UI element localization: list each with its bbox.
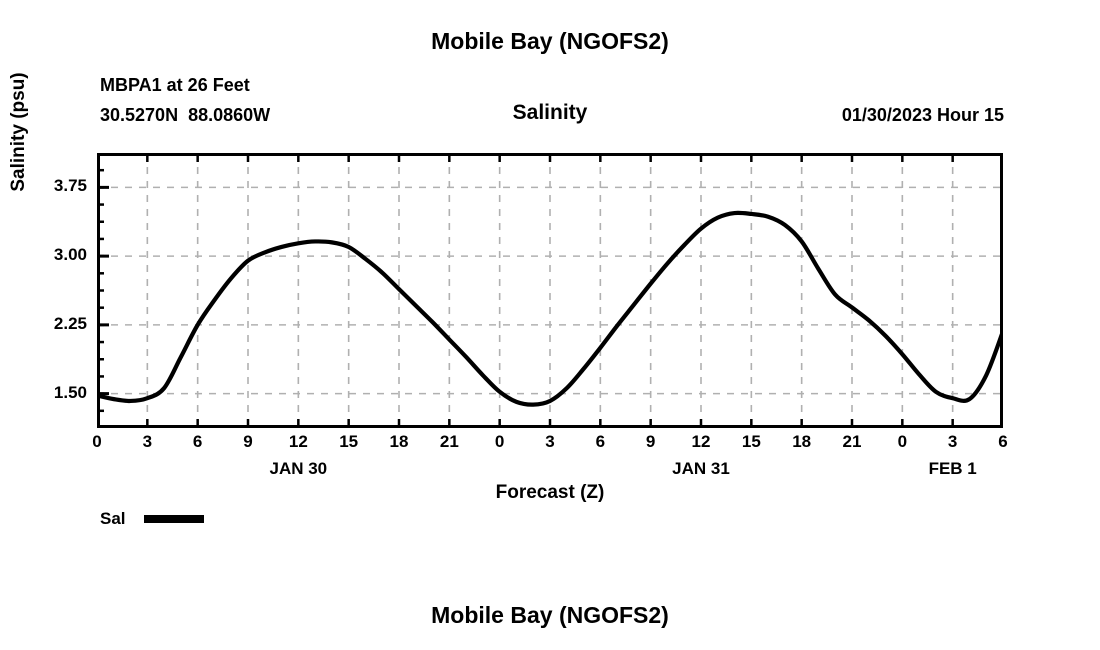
x-axis-tick-label: 15 bbox=[731, 432, 771, 452]
x-axis-tick-label: 6 bbox=[580, 432, 620, 452]
x-axis-tick-label: 6 bbox=[983, 432, 1023, 452]
salinity-line-chart bbox=[97, 153, 1003, 428]
legend-color-swatch bbox=[144, 515, 204, 523]
x-axis-tick-label: 21 bbox=[429, 432, 469, 452]
x-axis-day-label: JAN 31 bbox=[631, 459, 771, 479]
y-axis-tick-label: 1.50 bbox=[17, 383, 87, 403]
x-axis-tick-label: 0 bbox=[480, 432, 520, 452]
x-axis-tick-label: 0 bbox=[882, 432, 922, 452]
y-axis-tick-labels: 3.753.002.251.50 bbox=[17, 153, 87, 428]
station-name-label: MBPA1 at 26 Feet bbox=[100, 75, 250, 96]
bottom-title: Mobile Bay (NGOFS2) bbox=[0, 602, 1100, 629]
page-title: Mobile Bay (NGOFS2) bbox=[0, 28, 1100, 55]
plot-area bbox=[97, 153, 1003, 428]
x-axis-tick-label: 9 bbox=[631, 432, 671, 452]
legend-label-sal: Sal bbox=[100, 509, 126, 529]
chart-legend: Sal bbox=[100, 509, 204, 529]
x-axis-tick-label: 0 bbox=[77, 432, 117, 452]
y-axis-tick-label: 3.75 bbox=[17, 176, 87, 196]
x-axis-tick-label: 12 bbox=[278, 432, 318, 452]
x-axis-tick-label: 9 bbox=[228, 432, 268, 452]
x-axis-tick-label: 3 bbox=[530, 432, 570, 452]
x-axis-tick-labels: 036912151821036912151821036 bbox=[0, 432, 1100, 458]
x-axis-tick-label: 18 bbox=[379, 432, 419, 452]
forecast-timestamp-label: 01/30/2023 Hour 15 bbox=[842, 105, 1004, 126]
x-axis-tick-label: 15 bbox=[329, 432, 369, 452]
x-axis-tick-label: 3 bbox=[933, 432, 973, 452]
y-axis-tick-label: 2.25 bbox=[17, 314, 87, 334]
x-axis-day-label: JAN 30 bbox=[228, 459, 368, 479]
x-axis-tick-label: 6 bbox=[178, 432, 218, 452]
x-axis-tick-label: 21 bbox=[832, 432, 872, 452]
x-axis-tick-label: 3 bbox=[127, 432, 167, 452]
x-axis-tick-label: 18 bbox=[782, 432, 822, 452]
x-axis-day-label: FEB 1 bbox=[883, 459, 1023, 479]
x-axis-title: Forecast (Z) bbox=[0, 482, 1100, 504]
x-axis-tick-label: 12 bbox=[681, 432, 721, 452]
y-axis-tick-label: 3.00 bbox=[17, 245, 87, 265]
